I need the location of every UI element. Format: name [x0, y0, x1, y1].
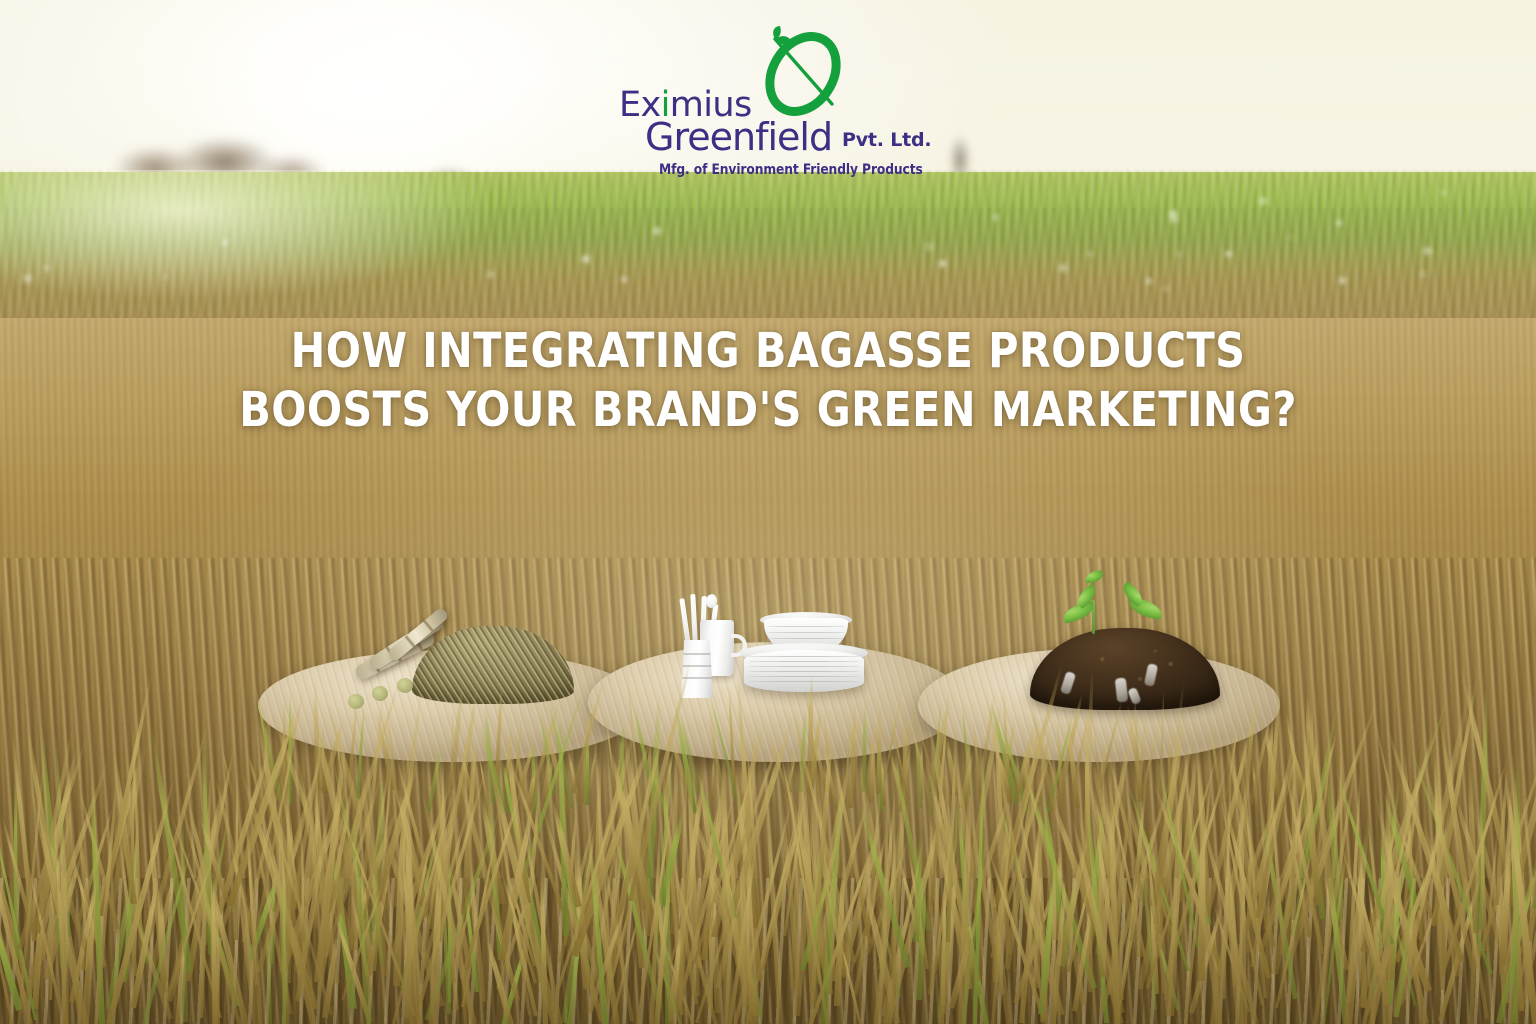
headline-line-2: BOOSTS YOUR BRAND'S GREEN MARKETING?: [31, 381, 1506, 440]
headline-line-1: HOW INTEGRATING BAGASSE PRODUCTS: [31, 322, 1506, 381]
logo-entity-suffix: Pvt. Ltd.: [842, 131, 931, 150]
bagasse-plate-stack: [744, 650, 864, 692]
headline: HOW INTEGRATING BAGASSE PRODUCTS BOOSTS …: [31, 322, 1506, 439]
logo-tagline: Mfg. of Environment Friendly Products: [659, 163, 923, 178]
decomposing-cutlery-fragment: [1115, 677, 1128, 702]
green-ellipse-sprout-icon: [758, 26, 844, 122]
horizon-sun-haze: [0, 170, 620, 330]
company-logo: Eximius Greenfield Pvt. Ltd. Mfg. of Env…: [619, 26, 919, 166]
logo-name-secondary: Greenfield: [645, 118, 832, 156]
banner-image: Eximius Greenfield Pvt. Ltd. Mfg. of Env…: [0, 0, 1536, 1024]
sugarcane-cut-end: [372, 686, 388, 701]
